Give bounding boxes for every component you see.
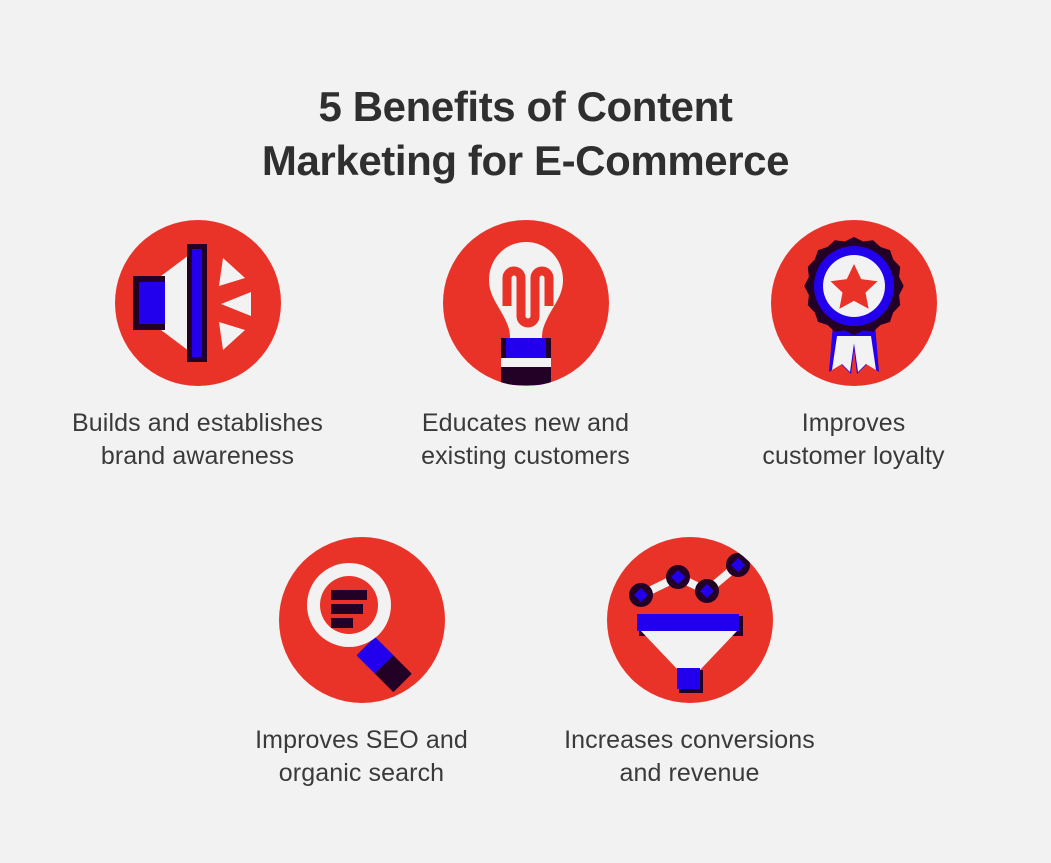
lightbulb-icon xyxy=(443,220,609,386)
page-title: 5 Benefits of Content Marketing for E-Co… xyxy=(0,80,1051,188)
icon-circle-brand-awareness xyxy=(115,220,281,386)
caption-line-1: Improves xyxy=(762,407,944,440)
caption-line-1: Increases conversions xyxy=(564,724,815,757)
benefits-row-top: Builds and establishes brand awareness xyxy=(0,220,1051,473)
benefits-row-bottom: Improves SEO and organic search xyxy=(0,537,1051,790)
benefit-caption-brand-awareness: Builds and establishes brand awareness xyxy=(72,407,323,473)
icon-circle-seo-organic-search xyxy=(279,537,445,703)
benefit-caption-customer-loyalty: Improves customer loyalty xyxy=(762,407,944,473)
benefit-item-conversions-revenue: Increases conversions and revenue xyxy=(526,537,854,790)
funnel-chart-icon xyxy=(607,537,773,703)
caption-line-2: organic search xyxy=(255,757,468,790)
benefit-item-brand-awareness: Builds and establishes brand awareness xyxy=(34,220,362,473)
icon-circle-conversions-revenue xyxy=(607,537,773,703)
caption-line-1: Educates new and xyxy=(421,407,630,440)
caption-line-2: and revenue xyxy=(564,757,815,790)
caption-line-2: existing customers xyxy=(421,440,630,473)
benefit-item-seo-organic-search: Improves SEO and organic search xyxy=(198,537,526,790)
infographic-canvas: 5 Benefits of Content Marketing for E-Co… xyxy=(0,0,1051,863)
benefit-caption-educates-customers: Educates new and existing customers xyxy=(421,407,630,473)
page-title-line-2: Marketing for E-Commerce xyxy=(0,134,1051,188)
benefit-item-customer-loyalty: Improves customer loyalty xyxy=(690,220,1018,473)
megaphone-icon xyxy=(115,220,281,386)
benefit-caption-conversions-revenue: Increases conversions and revenue xyxy=(564,724,815,790)
benefit-item-educates-customers: Educates new and existing customers xyxy=(362,220,690,473)
caption-line-2: customer loyalty xyxy=(762,440,944,473)
icon-circle-customer-loyalty xyxy=(771,220,937,386)
caption-line-1: Builds and establishes xyxy=(72,407,323,440)
icon-circle-educates-customers xyxy=(443,220,609,386)
caption-line-1: Improves SEO and xyxy=(255,724,468,757)
magnifying-glass-icon xyxy=(279,537,445,703)
award-ribbon-icon xyxy=(771,220,937,386)
page-title-line-1: 5 Benefits of Content xyxy=(0,80,1051,134)
caption-line-2: brand awareness xyxy=(72,440,323,473)
benefit-caption-seo-organic-search: Improves SEO and organic search xyxy=(255,724,468,790)
